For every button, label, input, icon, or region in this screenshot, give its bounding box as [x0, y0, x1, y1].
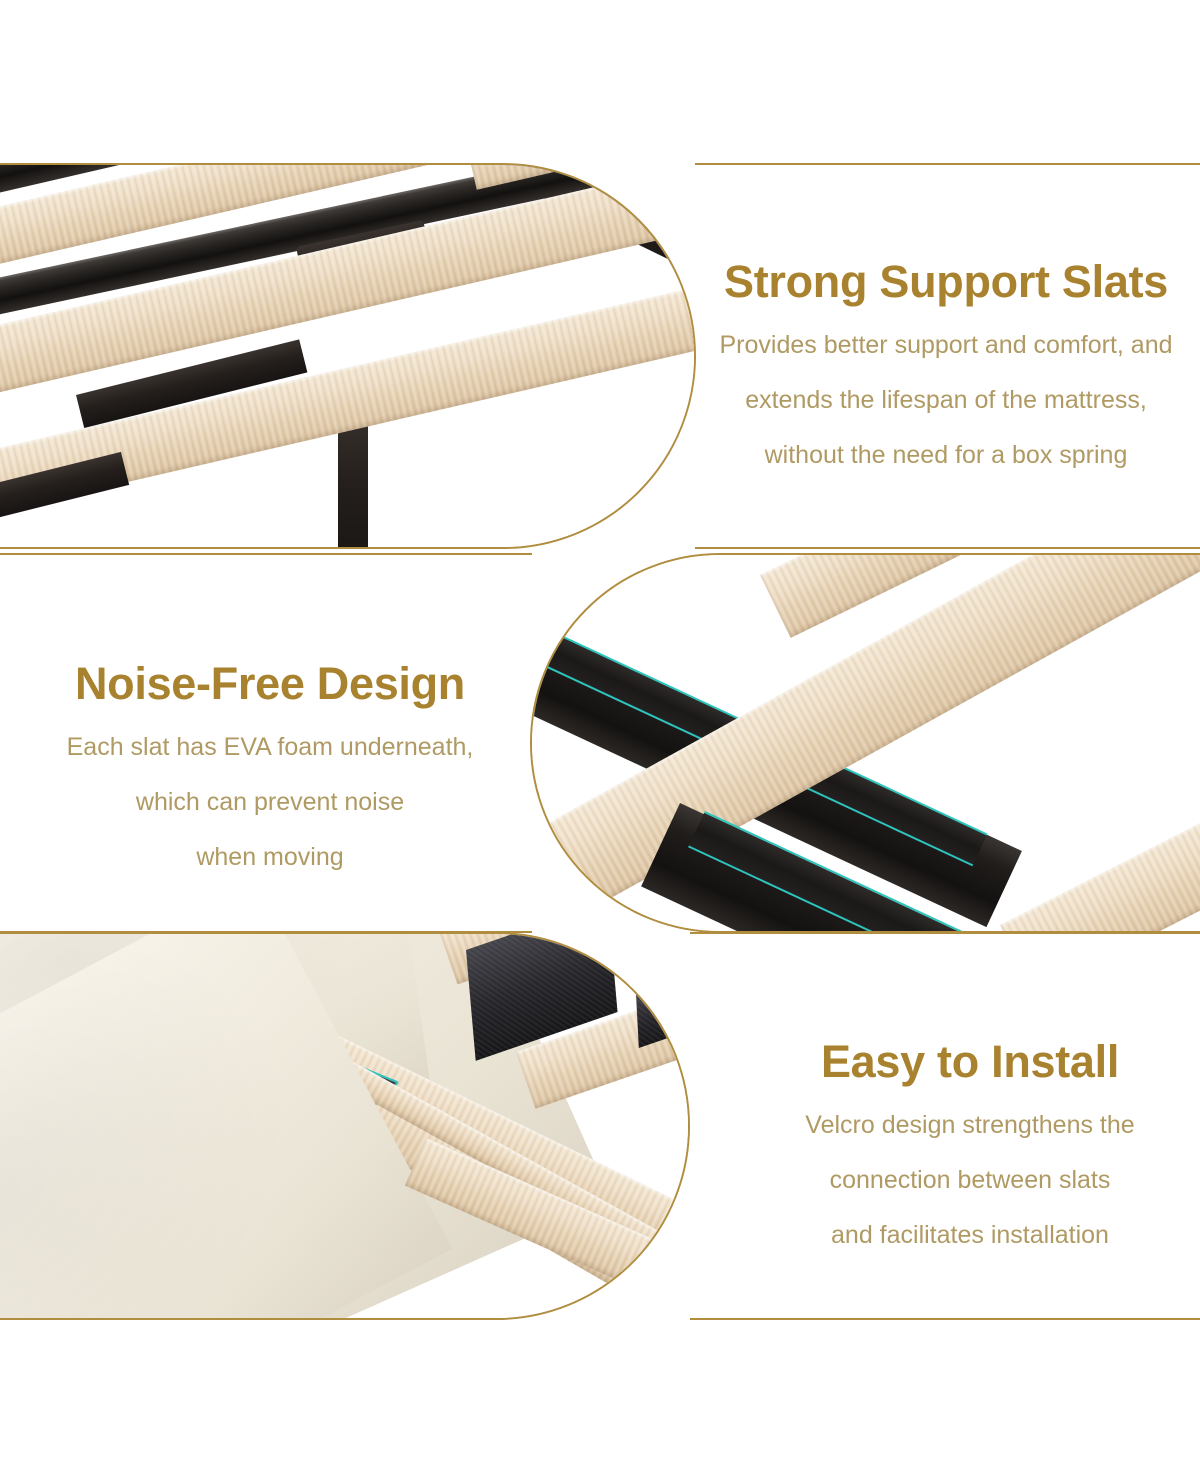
- panel-3-text: Easy to Install Velcro design strengthen…: [760, 1038, 1180, 1278]
- panel-2-body-line-1: Each slat has EVA foam underneath,: [30, 735, 510, 760]
- panel-1-body-line-1: Provides better support and comfort, and: [700, 333, 1192, 358]
- panel-1-bottom-rule: [695, 547, 1200, 549]
- panel-3-heading: Easy to Install: [760, 1038, 1180, 1087]
- panel-2-body-line-2: which can prevent noise: [30, 790, 510, 815]
- panel-2-heading: Noise-Free Design: [30, 660, 510, 709]
- panel-1-text: Strong Support Slats Provides better sup…: [700, 258, 1192, 498]
- panel-2-body: Each slat has EVA foam underneath, which…: [30, 735, 510, 870]
- panel-2-text: Noise-Free Design Each slat has EVA foam…: [30, 660, 510, 900]
- panel-1-top-rule: [695, 163, 1200, 165]
- panel-3-body-line-1: Velcro design strengthens the: [760, 1113, 1180, 1138]
- panel-1-body: Provides better support and comfort, and…: [700, 333, 1192, 468]
- panel-3-top-rule: [690, 932, 1200, 934]
- panel-1-photo: [0, 163, 696, 549]
- panel-1-body-line-3: without the need for a box spring: [700, 443, 1192, 468]
- panel-3-bottom-rule: [690, 1318, 1200, 1320]
- panel-2-photo: [530, 553, 1200, 933]
- panel-2-top-rule: [0, 553, 532, 555]
- panel-3-body: Velcro design strengthens the connection…: [760, 1113, 1180, 1248]
- panel-3-photo: [0, 932, 690, 1320]
- infographic-page: Strong Support Slats Provides better sup…: [0, 0, 1200, 1466]
- panel-1-heading: Strong Support Slats: [700, 258, 1192, 307]
- panel-2-body-line-3: when moving: [30, 845, 510, 870]
- panel-3-body-line-2: connection between slats: [760, 1168, 1180, 1193]
- panel-1-body-line-2: extends the lifespan of the mattress,: [700, 388, 1192, 413]
- panel-3-body-line-3: and facilitates installation: [760, 1223, 1180, 1248]
